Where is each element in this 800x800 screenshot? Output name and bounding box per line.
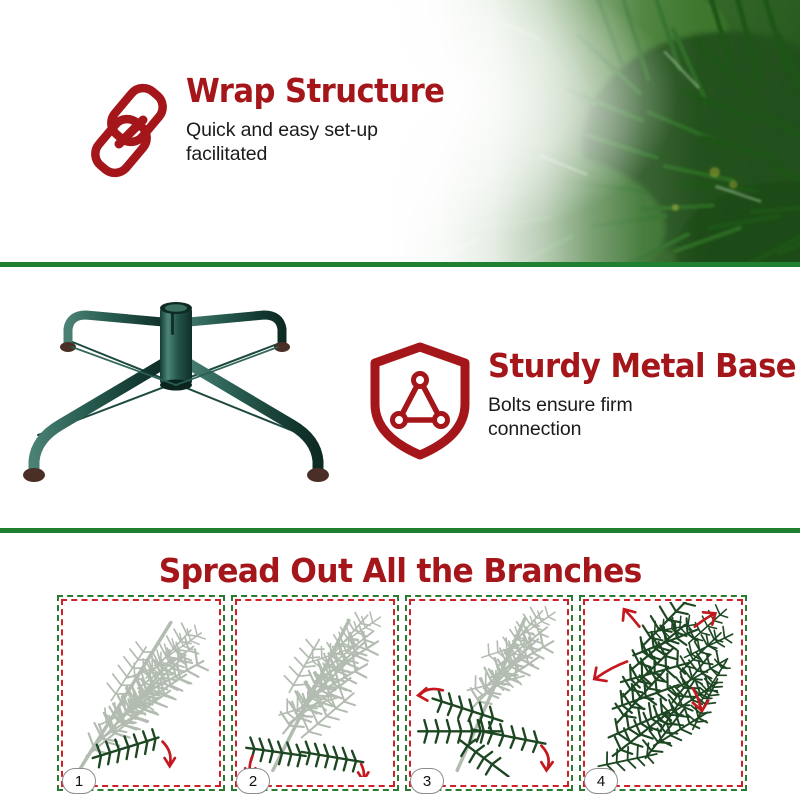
branch-step-panel-3: 3 (405, 595, 573, 791)
wrap-structure-subtitle-line1: Quick and easy set-up (186, 118, 516, 142)
branch-illustration-3-svg (412, 602, 566, 777)
branch-illustration-2 (238, 602, 392, 784)
metal-tree-stand-svg (8, 285, 344, 485)
chain-link-icon (78, 78, 182, 182)
branch-step-panels: 1 (57, 595, 747, 791)
step-number-badge: 2 (236, 768, 270, 794)
shield-bolts-icon (368, 342, 472, 460)
branch-illustration-4-svg (586, 602, 740, 777)
branch-step-panel-1: 1 (57, 595, 225, 791)
sturdy-metal-base-text-block: Sturdy Metal Base Bolts ensure firm conn… (488, 349, 798, 441)
sturdy-metal-base-subtitle-line2: connection (488, 417, 798, 441)
spread-branches-title: Spread Out All the Branches (0, 551, 800, 590)
branch-illustration-2-svg (238, 602, 392, 777)
section-spread-branches: Spread Out All the Branches (0, 533, 800, 800)
shield-bolts-icon-svg (368, 342, 472, 460)
branch-illustration-3 (412, 602, 566, 784)
step-number-badge: 3 (410, 768, 444, 794)
step-number-badge: 4 (584, 768, 618, 794)
branch-illustration-1 (64, 602, 218, 784)
section-sturdy-metal-base: Sturdy Metal Base Bolts ensure firm conn… (0, 267, 800, 528)
step-number-badge: 1 (62, 768, 96, 794)
branch-illustration-1-svg (64, 602, 218, 777)
section-wrap-structure: Wrap Structure Quick and easy set-up fac… (0, 0, 800, 262)
metal-tree-stand-image (8, 285, 344, 485)
wrap-structure-subtitle-line2: facilitated (186, 142, 516, 166)
branch-step-panel-2: 2 (231, 595, 399, 791)
branch-illustration-4 (586, 602, 740, 784)
wrap-structure-title: Wrap Structure (186, 74, 493, 109)
branch-step-panel-4: 4 (579, 595, 747, 791)
stand-center-hub (160, 302, 192, 391)
chain-link-icon-svg (78, 78, 182, 182)
infographic-page: Wrap Structure Quick and easy set-up fac… (0, 0, 800, 800)
spread-branches-title-text: Spread Out All the Branches (159, 551, 642, 590)
sturdy-metal-base-subtitle-line1: Bolts ensure firm (488, 393, 798, 417)
wrap-structure-subtitle: Quick and easy set-up facilitated (186, 118, 516, 166)
wrap-structure-text-block: Wrap Structure Quick and easy set-up fac… (186, 74, 516, 166)
sturdy-metal-base-subtitle: Bolts ensure firm connection (488, 393, 798, 441)
sturdy-metal-base-title: Sturdy Metal Base (488, 349, 776, 384)
